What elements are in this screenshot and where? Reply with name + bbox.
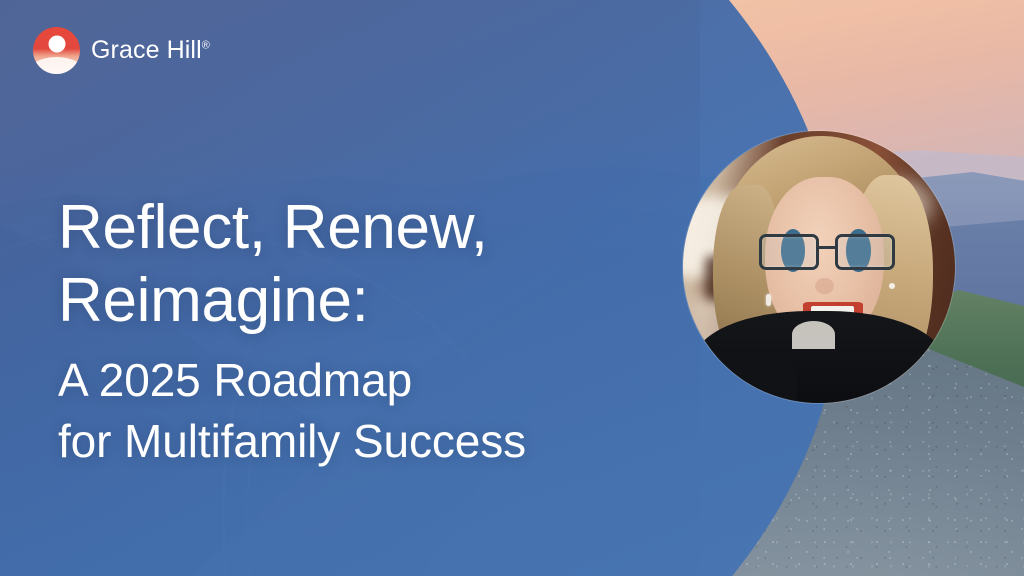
grace-hill-logo[interactable]: Grace Hill® (33, 27, 210, 74)
eyeglass-bridge (819, 246, 835, 249)
portrait-shoulder-left (683, 354, 797, 403)
portrait-collar (792, 321, 836, 348)
logo-wordmark: Grace Hill® (91, 38, 210, 63)
eyeglass-lens-right (835, 234, 895, 269)
grace-hill-sun-over-hill-circle-icon (33, 27, 80, 74)
portrait-earring-left (766, 294, 771, 306)
eyeglass-lens-left (759, 234, 819, 269)
portrait-nose (815, 278, 834, 294)
logo-wordmark-text: Grace Hill (91, 36, 202, 64)
portrait-eyeglasses (759, 234, 895, 269)
title-slide: Grace Hill® Reflect, Renew, Reimagine: A… (0, 0, 1024, 576)
page-title: Reflect, Renew, Reimagine: (58, 191, 488, 337)
speaker-portrait-avatar (683, 131, 955, 403)
page-subtitle: A 2025 Roadmap for Multifamily Success (58, 350, 526, 472)
registered-trademark-symbol: ® (202, 40, 210, 52)
